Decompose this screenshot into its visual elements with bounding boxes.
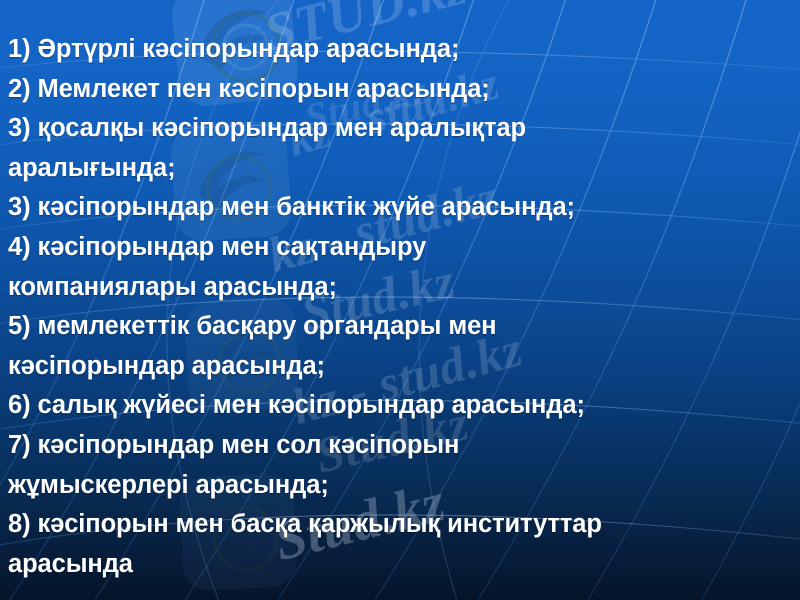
slide-text-line: компаниялары арасында; — [8, 268, 800, 308]
slide-text-line: 7) кәсіпорындар мен сол кәсіпорын — [8, 426, 800, 466]
presentation-slide: STUD.kz kz - stud.kz Stud.kz kz - stud.k… — [0, 0, 800, 600]
slide-text-line: аралығында; — [8, 149, 800, 189]
slide-text-line: 2) Мемлекет пен кәсіпорын арасында; — [8, 70, 800, 110]
slide-text-line: 3) қосалқы кәсіпорындар мен аралықтар — [8, 109, 800, 149]
slide-text-line: 6) салық жүйесі мен кәсіпорындар арасынд… — [8, 386, 800, 426]
slide-text-line: 5) мемлекеттік басқару органдары мен — [8, 307, 800, 347]
slide-text-line: жұмыскерлері арасында; — [8, 466, 800, 506]
slide-body-text: 1) Әртүрлі кәсіпорындар арасында; 2) Мем… — [8, 30, 800, 584]
slide-text-line: 3) кәсіпорындар мен банктік жүйе арасынд… — [8, 188, 800, 228]
slide-text-line: 1) Әртүрлі кәсіпорындар арасында; — [8, 30, 800, 70]
slide-text-line: 8) кәсіпорын мен басқа қаржылық институт… — [8, 505, 800, 545]
slide-text-line: 4) кәсіпорындар мен сақтандыру — [8, 228, 800, 268]
slide-text-line: кәсіпорындар арасында; — [8, 347, 800, 387]
slide-text-line: арасында — [8, 545, 800, 585]
